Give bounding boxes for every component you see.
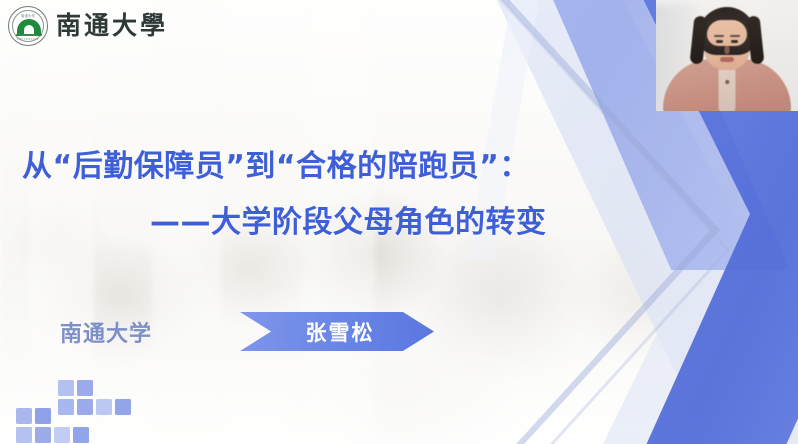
mosaic-square xyxy=(35,408,51,424)
presenter-video-overlay[interactable] xyxy=(656,0,798,111)
speaker-name-banner: 张雪松 xyxy=(240,312,434,351)
presenter-pendant xyxy=(725,80,729,84)
seal-micro-top-text: 南通大學 xyxy=(9,13,47,18)
mosaic-square xyxy=(96,399,112,415)
decorative-square-mosaic xyxy=(0,370,150,444)
presenter-eye-right xyxy=(731,40,738,43)
seal-micro-bottom-text: NANTONG UNIVERSITY xyxy=(9,33,47,41)
mosaic-square xyxy=(16,408,32,424)
presenter-nose xyxy=(725,46,730,54)
speaker-name: 张雪松 xyxy=(300,317,375,347)
mosaic-square xyxy=(58,380,74,396)
mosaic-square xyxy=(77,380,93,396)
mosaic-square xyxy=(35,427,51,443)
mosaic-square xyxy=(54,427,70,443)
presenter-brow-left xyxy=(714,35,724,37)
presentation-slide: 南通大學 NANTONG UNIVERSITY 南通大學 从“后勤保障员”到“ xyxy=(0,0,798,444)
university-logo: 南通大學 NANTONG UNIVERSITY 南通大學 xyxy=(8,6,168,46)
presenter-hair-right xyxy=(747,15,765,64)
mosaic-square xyxy=(73,427,89,443)
mosaic-square xyxy=(115,399,131,415)
organization-label: 南通大学 xyxy=(60,316,152,348)
slide-title: 从“后勤保障员”到“合格的陪跑员”： ——大学阶段父母角色的转变 xyxy=(0,152,660,238)
presenter-brow-right xyxy=(730,35,740,37)
byline-row: 南通大学 张雪松 xyxy=(0,310,520,354)
presenter-eye-left xyxy=(716,40,723,43)
mosaic-square xyxy=(16,427,32,443)
mosaic-square xyxy=(58,399,74,415)
presenter-figure xyxy=(656,0,798,111)
mosaic-square xyxy=(77,399,93,415)
seal-arch-shape xyxy=(17,19,41,34)
university-wordmark: 南通大學 xyxy=(56,14,168,39)
title-line-2: ——大学阶段父母角色的转变 xyxy=(0,208,660,238)
title-line-1: 从“后勤保障员”到“合格的陪跑员”： xyxy=(0,152,660,182)
presenter-mouth xyxy=(720,57,734,62)
university-seal-icon: 南通大學 NANTONG UNIVERSITY xyxy=(8,6,48,46)
